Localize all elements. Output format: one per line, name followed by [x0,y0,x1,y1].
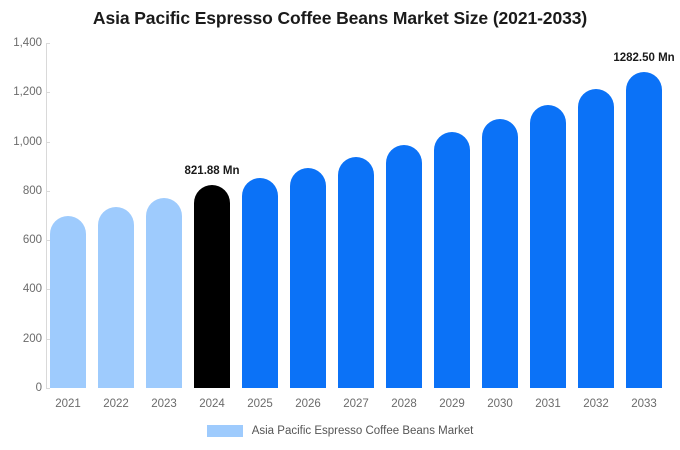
bar-2022[interactable] [98,207,134,388]
y-axis-tick-mark [46,142,50,143]
bar-2033[interactable] [626,72,662,388]
bar-2028[interactable] [386,145,422,388]
x-axis-tick-label-2033: 2033 [626,398,662,410]
y-axis-tick-label: 400 [4,283,42,295]
legend-swatch-asia-pacific-espresso-coffee-beans-market [207,425,243,437]
x-axis-tick-label-2032: 2032 [578,398,614,410]
y-axis-tick-label: 1,400 [4,37,42,49]
x-axis-tick-label-2028: 2028 [386,398,422,410]
y-axis-tick-mark [46,92,50,93]
bar-2031[interactable] [530,105,566,388]
y-axis-tick-mark [46,43,50,44]
y-axis-tick-mark [46,191,50,192]
y-axis-tick-mark [46,289,50,290]
y-axis-tick-mark [46,388,50,389]
x-axis-tick-label-2025: 2025 [242,398,278,410]
bar-2027[interactable] [338,157,374,388]
bar-2030[interactable] [482,119,518,388]
x-axis-tick-label-2022: 2022 [98,398,134,410]
y-axis-tick-label: 1,200 [4,86,42,98]
chart-container: Asia Pacific Espresso Coffee Beans Marke… [0,0,680,450]
y-axis-tick-label: 600 [4,234,42,246]
x-axis-tick-label-2027: 2027 [338,398,374,410]
y-axis-tick-label: 800 [4,185,42,197]
bar-value-label-2024: 821.88 Mn [185,165,240,177]
bar-2032[interactable] [578,89,614,388]
y-axis-tick-label: 200 [4,333,42,345]
bar-2029[interactable] [434,132,470,388]
x-axis-tick-label-2029: 2029 [434,398,470,410]
y-axis-tick-mark [46,339,50,340]
chart-title: Asia Pacific Espresso Coffee Beans Marke… [0,8,680,29]
legend-label-asia-pacific-espresso-coffee-beans-market: Asia Pacific Espresso Coffee Beans Marke… [252,425,474,437]
bar-2024[interactable] [194,185,230,388]
x-axis-tick-label-2031: 2031 [530,398,566,410]
y-axis-tick-label: 1,000 [4,136,42,148]
x-axis-tick-label-2023: 2023 [146,398,182,410]
x-axis-tick-label-2021: 2021 [50,398,86,410]
bar-2021[interactable] [50,216,86,389]
y-axis: 1,4001,2001,0008006004002000 [0,43,42,388]
y-axis-tick-label: 0 [4,382,42,394]
y-axis-tick-mark [46,240,50,241]
bar-2026[interactable] [290,168,326,388]
bar-2025[interactable] [242,178,278,388]
chart-legend: Asia Pacific Espresso Coffee Beans Marke… [0,425,680,437]
x-axis-tick-label-2024: 2024 [194,398,230,410]
x-axis-tick-label-2030: 2030 [482,398,518,410]
x-axis-tick-label-2026: 2026 [290,398,326,410]
bar-2023[interactable] [146,198,182,388]
plot-area [46,43,680,388]
bar-value-label-2033: 1282.50 Mn [613,52,674,64]
